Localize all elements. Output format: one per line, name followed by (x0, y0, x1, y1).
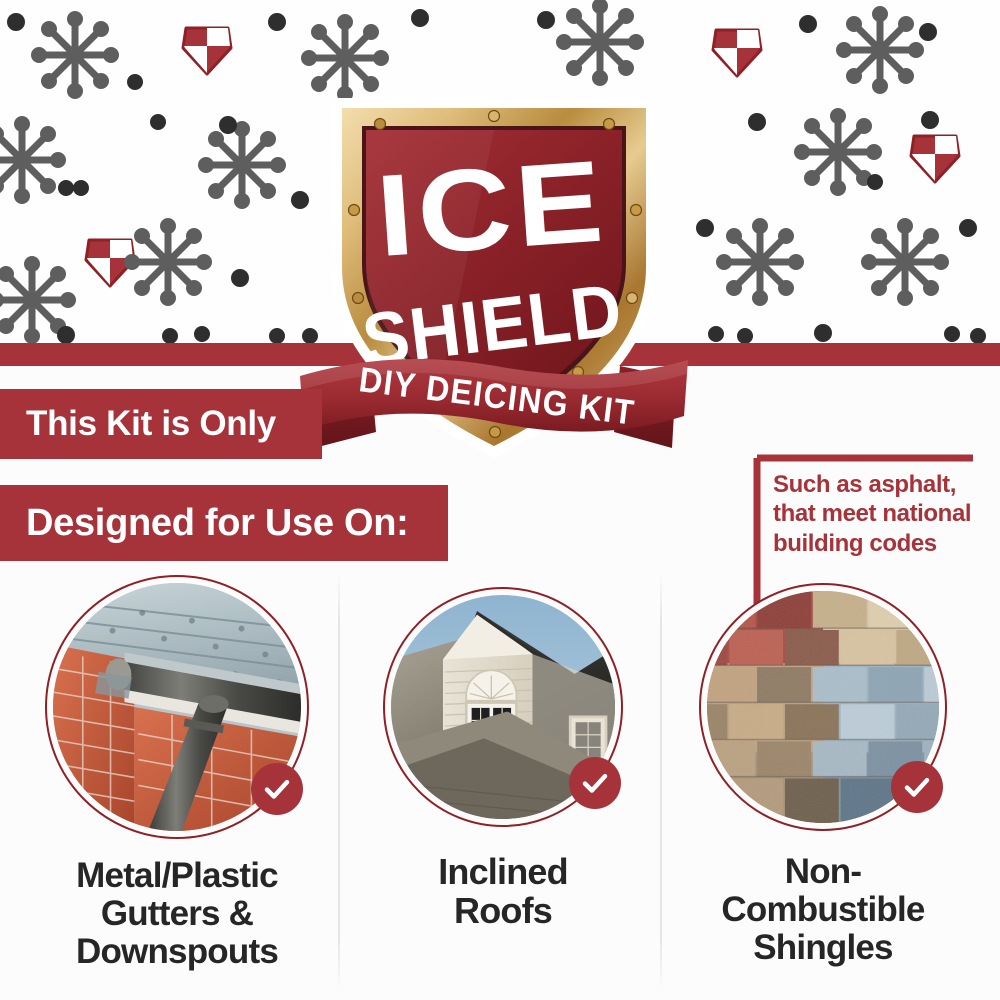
infographic-root: ICE SHIELD DIY DEICING KIT This Kit is O… (0, 0, 1000, 1000)
column-divider-2 (660, 575, 662, 987)
caption-shingles-line1: Non- (668, 853, 978, 891)
check-icon (262, 774, 292, 804)
caption-shingles-line2: Combustible (668, 891, 978, 929)
caption-roofs-line1: Inclined (348, 853, 658, 892)
caption-gutters-line3: Downspouts (22, 933, 332, 971)
column-divider-1 (338, 575, 340, 987)
photo-ring-3 (699, 583, 947, 831)
callout-text-block: Such as asphalt, that meet national buil… (773, 470, 988, 558)
feature-column-roofs: Inclined Roofs (348, 575, 658, 931)
caption-roofs-line2: Roofs (348, 892, 658, 931)
check-badge-1 (251, 763, 303, 815)
callout-line-1: Such as asphalt, (773, 470, 988, 499)
photo-ring-2 (383, 587, 623, 827)
headline-bar-1-text: This Kit is Only (26, 404, 276, 444)
check-icon (902, 772, 932, 802)
shield-graphic: ICE SHIELD DIY DEICING KIT (284, 60, 704, 480)
headline-bar-1: This Kit is Only (0, 389, 322, 459)
headline-bar-2: Designed for Use On: (0, 485, 448, 561)
check-badge-2 (569, 757, 621, 809)
caption-gutters-line1: Metal/Plastic (22, 857, 332, 895)
callout-line-3: building codes (773, 529, 988, 558)
feature-column-gutters: Metal/Plastic Gutters & Downspouts (22, 575, 332, 970)
check-badge-3 (891, 761, 943, 813)
feature-column-shingles: Non- Combustible Shingles (668, 575, 978, 966)
caption-roofs: Inclined Roofs (348, 853, 658, 931)
caption-gutters-line2: Gutters & (22, 895, 332, 933)
ice-shield-logo: ICE SHIELD DIY DEICING KIT (284, 60, 704, 480)
check-icon (580, 768, 610, 798)
caption-shingles: Non- Combustible Shingles (668, 853, 978, 966)
callout-line-2: that meet national (773, 499, 988, 528)
caption-gutters: Metal/Plastic Gutters & Downspouts (22, 857, 332, 970)
caption-shingles-line3: Shingles (668, 929, 978, 967)
photo-ring-1 (45, 575, 309, 839)
headline-bar-2-text: Designed for Use On: (26, 502, 409, 545)
logo-text-ice: ICE (373, 137, 611, 282)
